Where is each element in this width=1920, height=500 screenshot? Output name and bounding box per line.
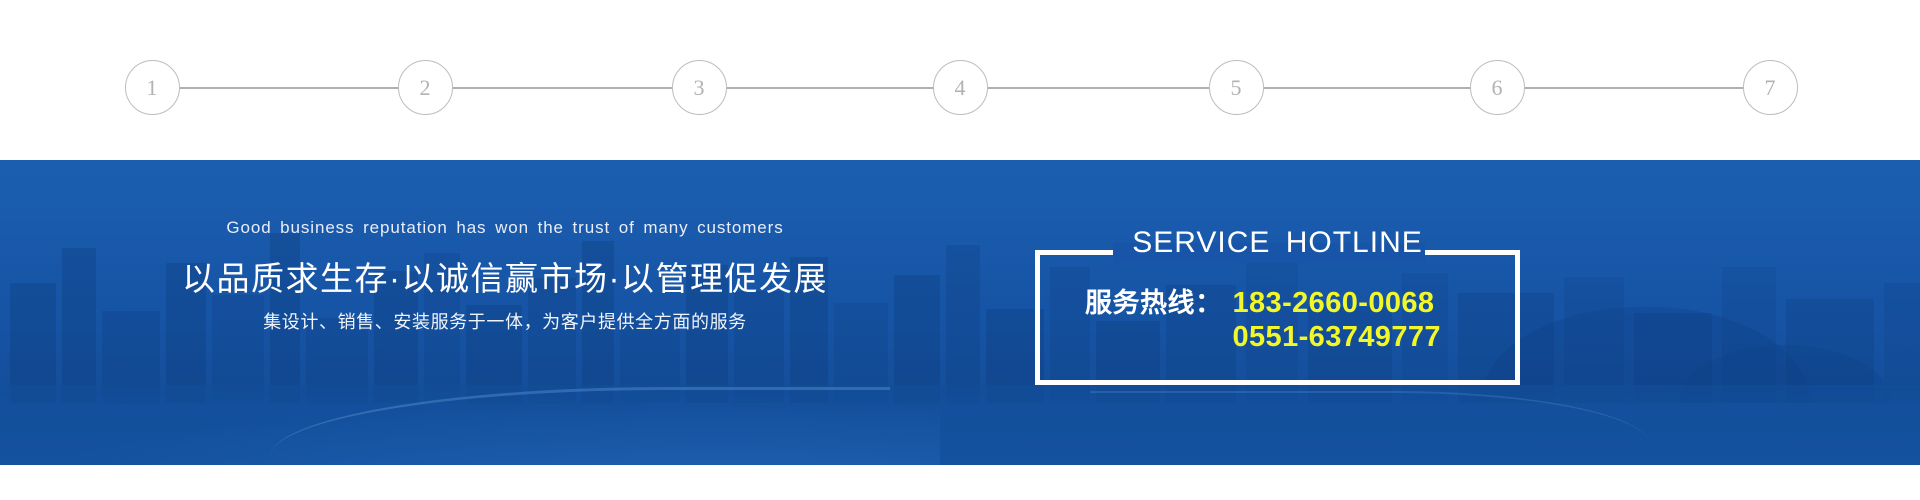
step-node-7[interactable]: 7 (1743, 60, 1798, 115)
slogan-block: Good business reputation has won the tru… (0, 160, 1010, 465)
step-node-label: 5 (1231, 77, 1242, 99)
step-progress-bar: 1 2 3 4 5 6 7 (0, 0, 1920, 160)
step-node-label: 2 (420, 77, 431, 99)
step-node-3[interactable]: 3 (672, 60, 727, 115)
step-node-label: 7 (1765, 77, 1776, 99)
step-node-4[interactable]: 4 (933, 60, 988, 115)
hotline-row-primary[interactable]: 服务热线： 183-2660-0068 (1035, 286, 1520, 320)
step-node-label: 4 (955, 77, 966, 99)
step-node-5[interactable]: 5 (1209, 60, 1264, 115)
slogan-chinese-main: 以品质求生存·以诚信赢市场·以管理促发展 (0, 252, 1010, 300)
hotline-label: 服务热线： (1085, 288, 1223, 320)
step-node-6[interactable]: 6 (1470, 60, 1525, 115)
step-node-label: 3 (694, 77, 705, 99)
service-hotline-box: SERVICE HOTLINE 服务热线： 183-2660-0068 服务热线… (1035, 250, 1520, 385)
step-node-label: 6 (1492, 77, 1503, 99)
slogan-english: Good business reputation has won the tru… (0, 218, 1010, 238)
blue-banner: Good business reputation has won the tru… (0, 160, 1920, 465)
hotline-row-secondary[interactable]: 服务热线： 0551-63749777 (1035, 320, 1520, 354)
page-root: 1 2 3 4 5 6 7 Good business reputation h… (0, 0, 1920, 500)
hotline-number-list: 服务热线： 183-2660-0068 服务热线： 0551-63749777 (1035, 286, 1520, 354)
hotline-title: SERVICE HOTLINE (1035, 226, 1520, 260)
slogan-chinese-sub: 集设计、销售、安装服务于一体，为客户提供全方面的服务 (0, 308, 1010, 334)
bottom-white-strip (0, 465, 1920, 500)
hotline-number[interactable]: 0551-63749777 (1233, 320, 1441, 354)
step-node-label: 1 (147, 77, 158, 99)
step-node-2[interactable]: 2 (398, 60, 453, 115)
hotline-number[interactable]: 183-2660-0068 (1233, 286, 1435, 320)
step-node-1[interactable]: 1 (125, 60, 180, 115)
